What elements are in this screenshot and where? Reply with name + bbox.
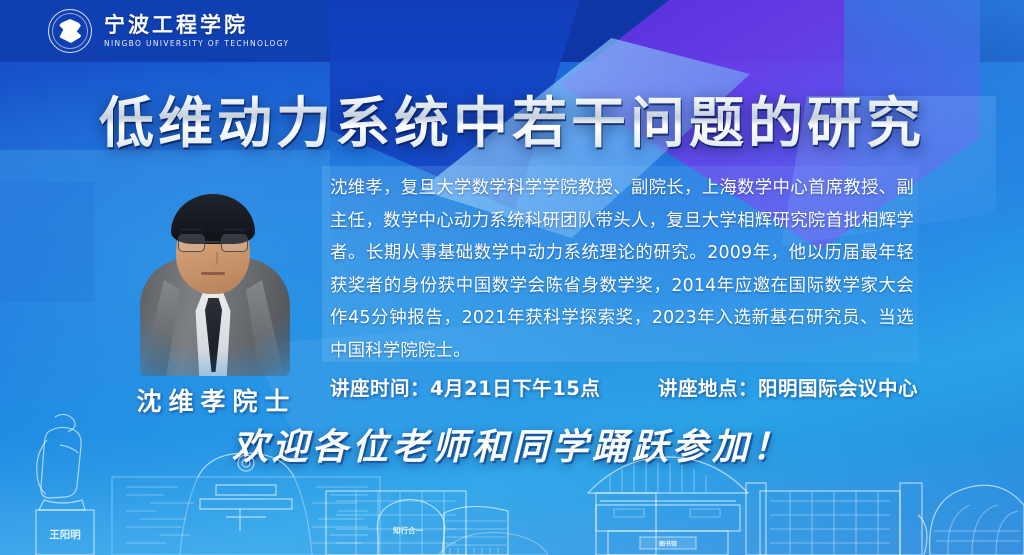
portrait-brow-left bbox=[180, 228, 202, 231]
main-teaching-hall-icon: 图书馆 bbox=[326, 457, 922, 555]
call-to-action: 欢迎各位老师和同学踊跃参加！ bbox=[0, 418, 1024, 470]
hall-sign-label: 图书馆 bbox=[659, 540, 677, 548]
university-logo: 宁波工程学院 NINGBO UNIVERSITY OF TECHNOLOGY bbox=[48, 9, 289, 53]
speaker-block: 沈维孝院士 bbox=[104, 176, 322, 418]
portrait-mouth bbox=[201, 272, 225, 275]
university-name-cn: 宁波工程学院 bbox=[104, 14, 289, 36]
speaker-name: 沈维孝院士 bbox=[104, 382, 322, 418]
bio-text: 沈维孝，复旦大学数学科学学院教授、副院长，上海数学中心首席教授、副主任，数学中心… bbox=[330, 172, 914, 368]
university-name-block: 宁波工程学院 NINGBO UNIVERSITY OF TECHNOLOGY bbox=[104, 14, 289, 48]
lecture-poster: 宁波工程学院 NINGBO UNIVERSITY OF TECHNOLOGY 低… bbox=[0, 0, 1024, 555]
office-block-icon bbox=[444, 506, 508, 555]
portrait-nose bbox=[208, 252, 218, 266]
lecture-time: 讲座时间：4月21日下午15点 bbox=[330, 372, 600, 401]
university-name-en: NINGBO UNIVERSITY OF TECHNOLOGY bbox=[104, 39, 289, 48]
portrait-brow-right bbox=[224, 228, 246, 231]
dome-building-icon bbox=[438, 532, 548, 555]
left-vertical-band bbox=[0, 182, 95, 302]
speaker-photo bbox=[104, 176, 322, 376]
motto-rock-icon: 知行合一 bbox=[377, 499, 444, 555]
sports-complex-icon bbox=[918, 485, 1024, 555]
statue-label: 王阳明 bbox=[49, 529, 81, 541]
poster-title: 低维动力系统中若干问题的研究 bbox=[0, 78, 1024, 158]
portrait-glasses-icon bbox=[178, 234, 248, 252]
university-seal-icon bbox=[48, 9, 92, 53]
poster-header: 宁波工程学院 NINGBO UNIVERSITY OF TECHNOLOGY bbox=[0, 0, 1024, 62]
lecture-details: 讲座时间：4月21日下午15点 讲座地点：阳明国际会议中心 bbox=[330, 372, 918, 401]
lecture-venue: 讲座地点：阳明国际会议中心 bbox=[658, 372, 918, 401]
rock-label: 知行合一 bbox=[393, 525, 423, 535]
